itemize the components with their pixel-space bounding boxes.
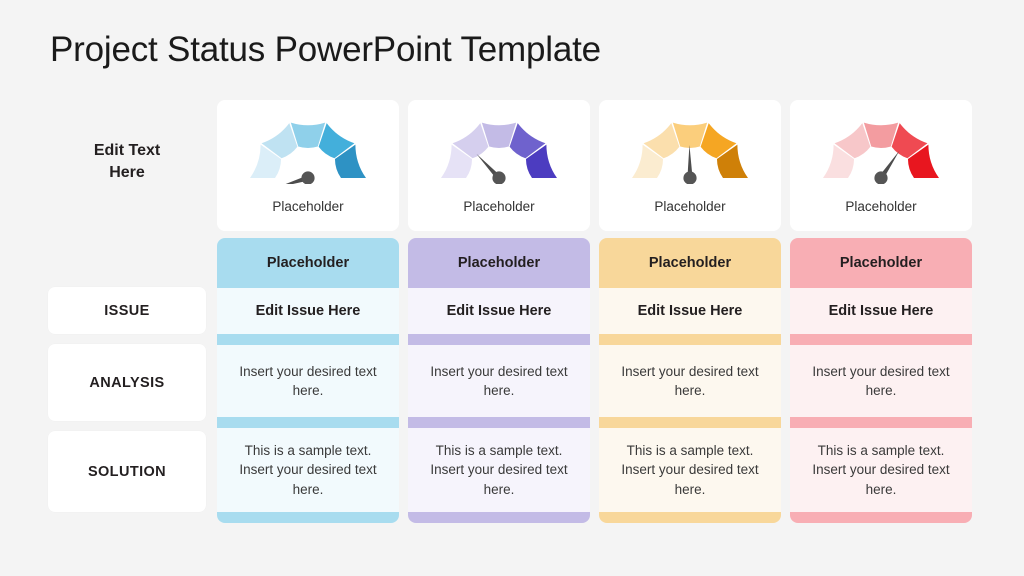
column-foot-band <box>217 512 399 523</box>
status-column-4[interactable]: PlaceholderEdit Issue HereInsert your de… <box>790 238 972 523</box>
cell-solution-1[interactable]: This is a sample text. Insert your desir… <box>217 428 399 512</box>
column-header-4[interactable]: Placeholder <box>790 238 972 288</box>
cell-analysis-1[interactable]: Insert your desired text here. <box>217 345 399 417</box>
cell-issue-2[interactable]: Edit Issue Here <box>408 288 590 334</box>
cell-analysis-2[interactable]: Insert your desired text here. <box>408 345 590 417</box>
gauge-chart-1 <box>217 114 399 190</box>
gauge-hub <box>874 171 887 184</box>
row-divider <box>217 417 399 428</box>
row-divider <box>408 334 590 345</box>
column-foot-band <box>408 512 590 523</box>
gauge-card-3[interactable]: Placeholder <box>599 100 781 231</box>
gauge-caption-4: Placeholder <box>790 199 972 214</box>
column-header-3[interactable]: Placeholder <box>599 238 781 288</box>
column-header-1[interactable]: Placeholder <box>217 238 399 288</box>
status-column-3[interactable]: PlaceholderEdit Issue HereInsert your de… <box>599 238 781 523</box>
cell-issue-3[interactable]: Edit Issue Here <box>599 288 781 334</box>
gauge-hub <box>301 171 314 184</box>
row-label-analysis[interactable]: ANALYSIS <box>48 344 206 421</box>
row-divider <box>790 334 972 345</box>
cell-issue-4[interactable]: Edit Issue Here <box>790 288 972 334</box>
gauge-chart-4 <box>790 114 972 190</box>
cell-solution-3[interactable]: This is a sample text. Insert your desir… <box>599 428 781 512</box>
row-label-solution-text: SOLUTION <box>88 464 166 480</box>
gauge-hub <box>683 171 696 184</box>
row-label-solution[interactable]: SOLUTION <box>48 431 206 512</box>
row-label-issue-text: ISSUE <box>104 303 150 319</box>
gauge-card-4[interactable]: Placeholder <box>790 100 972 231</box>
cell-analysis-3[interactable]: Insert your desired text here. <box>599 345 781 417</box>
row-divider <box>790 417 972 428</box>
row-divider <box>217 334 399 345</box>
column-header-2[interactable]: Placeholder <box>408 238 590 288</box>
left-column-heading: Edit TextHere <box>48 140 206 183</box>
cell-solution-2[interactable]: This is a sample text. Insert your desir… <box>408 428 590 512</box>
cell-analysis-4[interactable]: Insert your desired text here. <box>790 345 972 417</box>
status-column-1[interactable]: PlaceholderEdit Issue HereInsert your de… <box>217 238 399 523</box>
gauge-chart-2 <box>408 114 590 190</box>
gauge-card-2[interactable]: Placeholder <box>408 100 590 231</box>
row-divider <box>408 417 590 428</box>
gauge-caption-1: Placeholder <box>217 199 399 214</box>
gauge-hub <box>492 171 505 184</box>
cell-issue-1[interactable]: Edit Issue Here <box>217 288 399 334</box>
column-foot-band <box>790 512 972 523</box>
row-divider <box>599 334 781 345</box>
row-label-analysis-text: ANALYSIS <box>89 375 164 391</box>
page-title: Project Status PowerPoint Template <box>50 30 601 70</box>
gauge-card-1[interactable]: Placeholder <box>217 100 399 231</box>
gauge-chart-3 <box>599 114 781 190</box>
gauge-caption-2: Placeholder <box>408 199 590 214</box>
row-divider <box>599 417 781 428</box>
column-foot-band <box>599 512 781 523</box>
gauge-caption-3: Placeholder <box>599 199 781 214</box>
status-column-2[interactable]: PlaceholderEdit Issue HereInsert your de… <box>408 238 590 523</box>
cell-solution-4[interactable]: This is a sample text. Insert your desir… <box>790 428 972 512</box>
row-label-issue[interactable]: ISSUE <box>48 287 206 334</box>
slide-canvas: Project Status PowerPoint Template Edit … <box>0 0 1024 576</box>
